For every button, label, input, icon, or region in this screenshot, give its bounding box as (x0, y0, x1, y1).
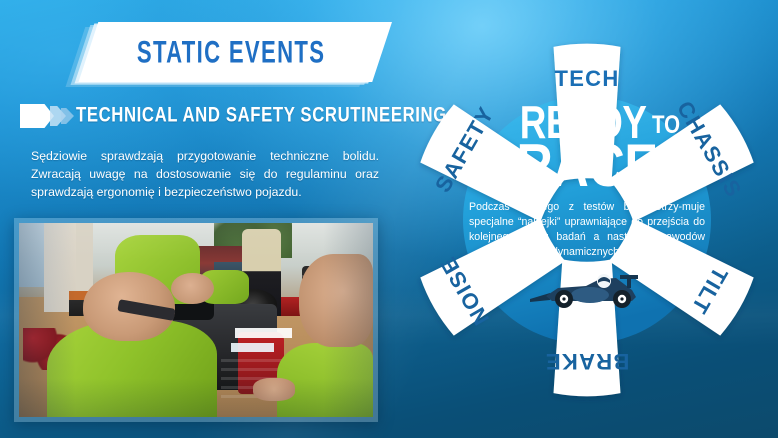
donut-svg: TECH CHASSIS TILT BRAKE NOISE SAFETY (396, 29, 778, 411)
donut-segment-brake[interactable] (554, 259, 621, 396)
photo-frame (14, 218, 378, 422)
donut-label-brake: BRAKE (545, 349, 630, 374)
body-paragraph: Sędziowie sprawdzają przygotowanie techn… (31, 148, 379, 201)
donut-label-tech: TECH (554, 66, 619, 91)
donut-segment-tech[interactable] (554, 44, 621, 181)
header-banner: STATIC EVENTS (62, 22, 392, 82)
section-heading: TECHNICAL AND SAFETY SCRUTINEERING (76, 104, 447, 129)
page-title: STATIC EVENTS (92, 17, 363, 88)
body-paragraph-text: Sędziowie sprawdzają przygotowanie techn… (31, 148, 379, 201)
ready-to-race-donut: TECH CHASSIS TILT BRAKE NOISE SAFETY REA… (396, 29, 778, 411)
chevron-right-icon (20, 104, 76, 128)
scrutineering-photo (19, 223, 373, 417)
